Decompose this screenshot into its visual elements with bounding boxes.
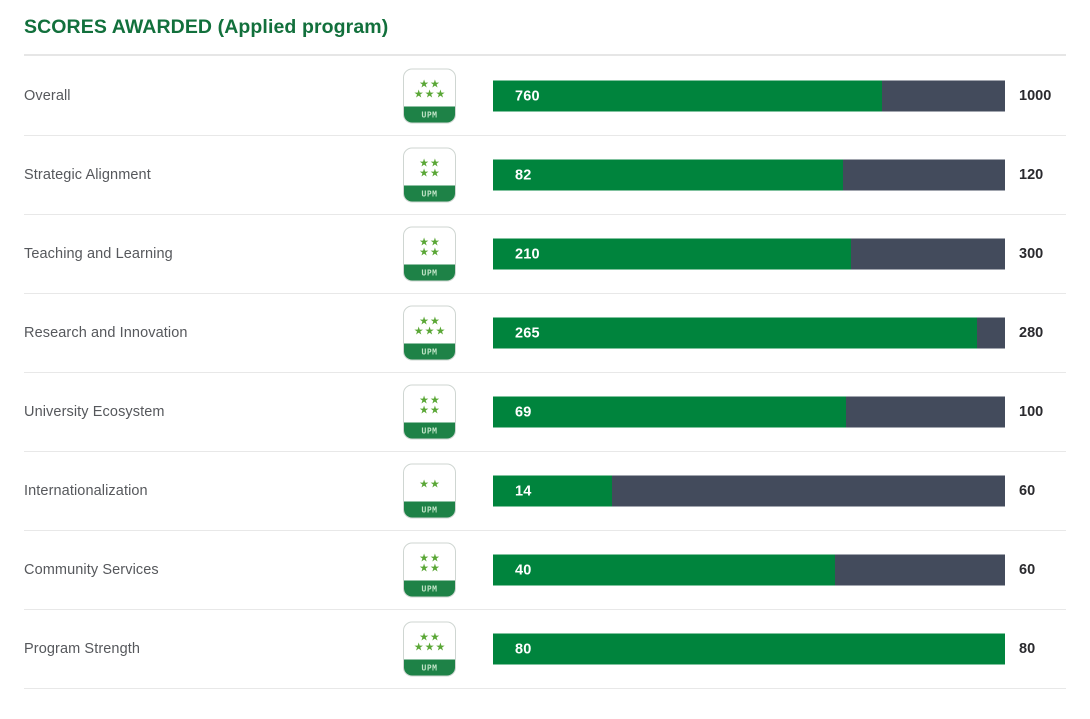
star-icon: ★ bbox=[419, 632, 429, 642]
row-label: Research and Innovation bbox=[24, 325, 188, 341]
star-row-top: ★★ bbox=[419, 158, 441, 168]
badge-brand-label: UPM bbox=[404, 107, 455, 123]
table-row: Program Strength★★★★★UPM8080 bbox=[24, 610, 1066, 689]
star-icon: ★ bbox=[414, 89, 424, 99]
star-icon: ★ bbox=[425, 642, 435, 652]
score-bar-fill bbox=[493, 239, 851, 270]
star-icon: ★ bbox=[425, 326, 435, 336]
score-bar-track: 82 bbox=[493, 160, 1005, 191]
score-bar-track: 40 bbox=[493, 555, 1005, 586]
star-icon: ★ bbox=[419, 168, 429, 178]
score-bar-track: 265 bbox=[493, 318, 1005, 349]
table-row: Teaching and Learning★★★★UPM210300 bbox=[24, 215, 1066, 294]
badge-brand-label: UPM bbox=[404, 581, 455, 597]
star-icon: ★ bbox=[435, 642, 445, 652]
star-icon: ★ bbox=[414, 326, 424, 336]
star-row-bottom: ★★★ bbox=[413, 89, 446, 99]
score-bar-track: 69 bbox=[493, 397, 1005, 428]
score-max: 100 bbox=[1019, 404, 1043, 420]
star-icon: ★ bbox=[435, 326, 445, 336]
badge-brand-label: UPM bbox=[404, 186, 455, 202]
star-icon: ★ bbox=[414, 642, 424, 652]
upm-rating-badge: ★★UPM bbox=[403, 464, 456, 519]
score-bar-fill bbox=[493, 397, 846, 428]
table-row: Community Services★★★★UPM4060 bbox=[24, 531, 1066, 610]
scores-row-list: Overall★★★★★UPM7601000Strategic Alignmen… bbox=[0, 57, 1090, 689]
upm-rating-badge: ★★★★UPM bbox=[403, 543, 456, 598]
score-bar-fill bbox=[493, 160, 843, 191]
table-row: Research and Innovation★★★★★UPM265280 bbox=[24, 294, 1066, 373]
score-value: 69 bbox=[515, 397, 532, 428]
badge-stars: ★★★★ bbox=[404, 386, 455, 423]
score-value: 210 bbox=[515, 239, 540, 270]
star-icon: ★ bbox=[425, 89, 435, 99]
star-row-bottom: ★★ bbox=[419, 405, 441, 415]
upm-rating-badge: ★★★★UPM bbox=[403, 227, 456, 282]
score-value: 40 bbox=[515, 555, 532, 586]
star-row-bottom: ★★ bbox=[419, 168, 441, 178]
star-row-top: ★★ bbox=[419, 479, 441, 489]
score-bar-fill bbox=[493, 81, 882, 112]
star-row-bottom: ★★★ bbox=[413, 642, 446, 652]
star-icon: ★ bbox=[430, 158, 440, 168]
table-row: Strategic Alignment★★★★UPM82120 bbox=[24, 136, 1066, 215]
star-icon: ★ bbox=[430, 479, 440, 489]
score-bar-fill bbox=[493, 555, 835, 586]
page-title: SCORES AWARDED (Applied program) bbox=[24, 16, 388, 39]
score-max: 60 bbox=[1019, 562, 1035, 578]
score-bar-track: 210 bbox=[493, 239, 1005, 270]
row-label: Program Strength bbox=[24, 641, 140, 657]
upm-rating-badge: ★★★★★UPM bbox=[403, 69, 456, 124]
upm-rating-badge: ★★★★★UPM bbox=[403, 622, 456, 677]
star-icon: ★ bbox=[419, 79, 429, 89]
badge-stars: ★★★★ bbox=[404, 149, 455, 186]
upm-rating-badge: ★★★★UPM bbox=[403, 385, 456, 440]
scores-awarded-panel: SCORES AWARDED (Applied program) Overall… bbox=[0, 0, 1090, 719]
star-row-top: ★★ bbox=[419, 237, 441, 247]
score-bar-track: 760 bbox=[493, 81, 1005, 112]
upm-rating-badge: ★★★★UPM bbox=[403, 148, 456, 203]
title-divider bbox=[24, 54, 1066, 56]
row-label: Teaching and Learning bbox=[24, 246, 173, 262]
star-icon: ★ bbox=[419, 316, 429, 326]
star-row-top: ★★ bbox=[419, 632, 441, 642]
badge-stars: ★★★★★ bbox=[404, 307, 455, 344]
row-label: Community Services bbox=[24, 562, 159, 578]
upm-rating-badge: ★★★★★UPM bbox=[403, 306, 456, 361]
score-bar-track: 80 bbox=[493, 634, 1005, 665]
star-icon: ★ bbox=[419, 237, 429, 247]
star-row-bottom: ★★★ bbox=[413, 326, 446, 336]
star-icon: ★ bbox=[419, 479, 429, 489]
row-label: Overall bbox=[24, 88, 71, 104]
star-icon: ★ bbox=[419, 563, 429, 573]
badge-stars: ★★★★★ bbox=[404, 623, 455, 660]
score-value: 82 bbox=[515, 160, 532, 191]
score-bar-track: 14 bbox=[493, 476, 1005, 507]
score-value: 265 bbox=[515, 318, 540, 349]
badge-brand-label: UPM bbox=[404, 502, 455, 518]
star-icon: ★ bbox=[430, 553, 440, 563]
star-icon: ★ bbox=[419, 395, 429, 405]
badge-brand-label: UPM bbox=[404, 423, 455, 439]
score-bar-fill bbox=[493, 634, 1005, 665]
star-icon: ★ bbox=[419, 553, 429, 563]
score-value: 760 bbox=[515, 81, 540, 112]
star-icon: ★ bbox=[430, 168, 440, 178]
score-bar-fill bbox=[493, 318, 977, 349]
star-icon: ★ bbox=[430, 316, 440, 326]
badge-brand-label: UPM bbox=[404, 660, 455, 676]
table-row: Internationalization★★UPM1460 bbox=[24, 452, 1066, 531]
star-icon: ★ bbox=[430, 237, 440, 247]
badge-stars: ★★★★★ bbox=[404, 70, 455, 107]
star-icon: ★ bbox=[419, 405, 429, 415]
row-label: Strategic Alignment bbox=[24, 167, 151, 183]
star-icon: ★ bbox=[430, 395, 440, 405]
badge-brand-label: UPM bbox=[404, 265, 455, 281]
star-icon: ★ bbox=[430, 563, 440, 573]
star-icon: ★ bbox=[419, 158, 429, 168]
star-icon: ★ bbox=[435, 89, 445, 99]
badge-stars: ★★★★ bbox=[404, 228, 455, 265]
star-row-top: ★★ bbox=[419, 316, 441, 326]
star-icon: ★ bbox=[430, 632, 440, 642]
row-label: University Ecosystem bbox=[24, 404, 165, 420]
row-label: Internationalization bbox=[24, 483, 148, 499]
score-max: 300 bbox=[1019, 246, 1043, 262]
star-row-top: ★★ bbox=[419, 395, 441, 405]
score-max: 120 bbox=[1019, 167, 1043, 183]
score-max: 1000 bbox=[1019, 88, 1051, 104]
score-value: 80 bbox=[515, 634, 532, 665]
star-row-bottom: ★★ bbox=[419, 247, 441, 257]
table-row: Overall★★★★★UPM7601000 bbox=[24, 57, 1066, 136]
score-value: 14 bbox=[515, 476, 532, 507]
star-row-bottom: ★★ bbox=[419, 563, 441, 573]
star-row-top: ★★ bbox=[419, 553, 441, 563]
score-bar-fill bbox=[493, 476, 612, 507]
star-icon: ★ bbox=[419, 247, 429, 257]
badge-stars: ★★ bbox=[404, 465, 455, 502]
table-row: University Ecosystem★★★★UPM69100 bbox=[24, 373, 1066, 452]
score-max: 280 bbox=[1019, 325, 1043, 341]
badge-brand-label: UPM bbox=[404, 344, 455, 360]
score-max: 60 bbox=[1019, 483, 1035, 499]
star-row-top: ★★ bbox=[419, 79, 441, 89]
badge-stars: ★★★★ bbox=[404, 544, 455, 581]
star-icon: ★ bbox=[430, 247, 440, 257]
star-icon: ★ bbox=[430, 405, 440, 415]
star-icon: ★ bbox=[430, 79, 440, 89]
score-max: 80 bbox=[1019, 641, 1035, 657]
